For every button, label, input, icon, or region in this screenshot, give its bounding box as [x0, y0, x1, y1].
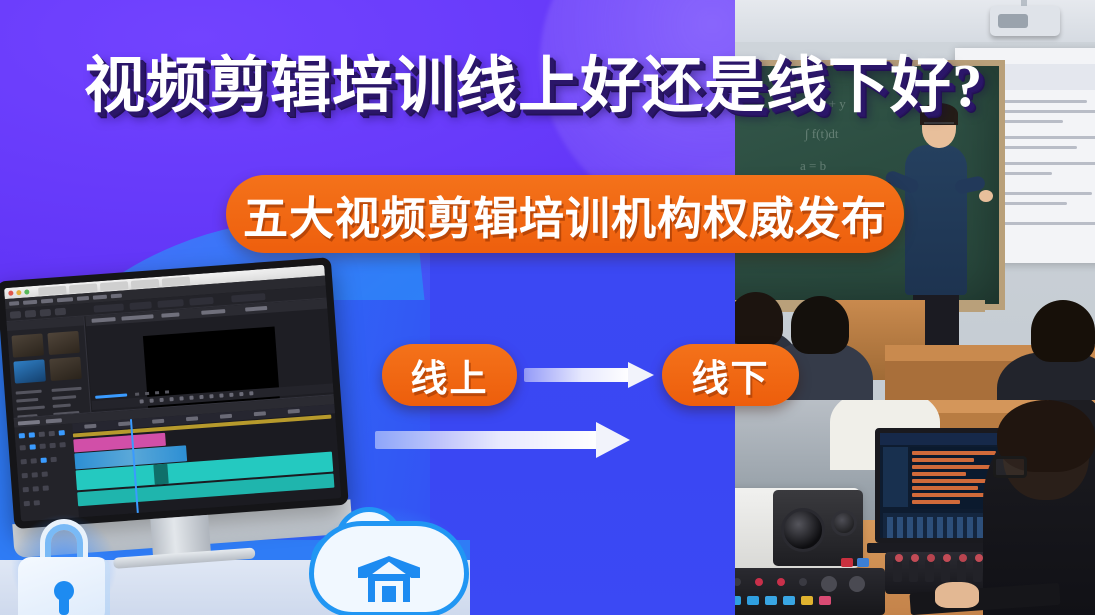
monitor-bezel	[0, 257, 349, 529]
student-head	[1031, 300, 1095, 362]
camera-record-button	[841, 558, 853, 567]
subtitle-banner: 五大视频剪辑培训机构权威发布	[226, 175, 904, 253]
timeline-clip	[153, 464, 168, 485]
pill-offline-label: 线下	[692, 348, 770, 402]
lock-icon	[16, 519, 112, 615]
pill-offline[interactable]: 线下	[662, 344, 799, 406]
student-head	[735, 292, 783, 346]
camera-lens-secondary	[831, 510, 857, 536]
cloud-home-icon	[314, 512, 464, 615]
studio-photo	[735, 400, 1095, 615]
teacher-body	[905, 145, 967, 295]
student-head	[791, 296, 849, 354]
subtitle-text: 五大视频剪辑培训机构权威发布	[243, 182, 887, 247]
program-monitor-panel	[85, 299, 333, 412]
page-title: 视频剪辑培训线上好还是线下好?	[84, 56, 1014, 117]
camera-lens	[781, 508, 825, 552]
poster-canvas: x² + y ∫ f(t)dt a = b Σ n→∞ Δ P(x)	[0, 0, 1095, 615]
control-panel	[735, 568, 885, 615]
camera-button	[857, 558, 869, 567]
project-panel	[6, 316, 91, 417]
house-icon	[360, 556, 418, 600]
teacher-hand-right	[979, 190, 993, 202]
operator-glasses	[993, 456, 1027, 478]
timeline-panel	[14, 394, 342, 521]
projector-icon	[990, 6, 1060, 36]
pill-online-label: 线上	[411, 348, 489, 402]
teacher-glasses	[924, 122, 954, 129]
pill-online[interactable]: 线上	[382, 344, 517, 406]
operator-hand	[935, 582, 979, 608]
monitor-screen	[4, 265, 341, 522]
arrow-right-icon-large	[375, 423, 630, 457]
track-headers	[14, 424, 79, 522]
arrow-right-icon	[524, 362, 654, 388]
